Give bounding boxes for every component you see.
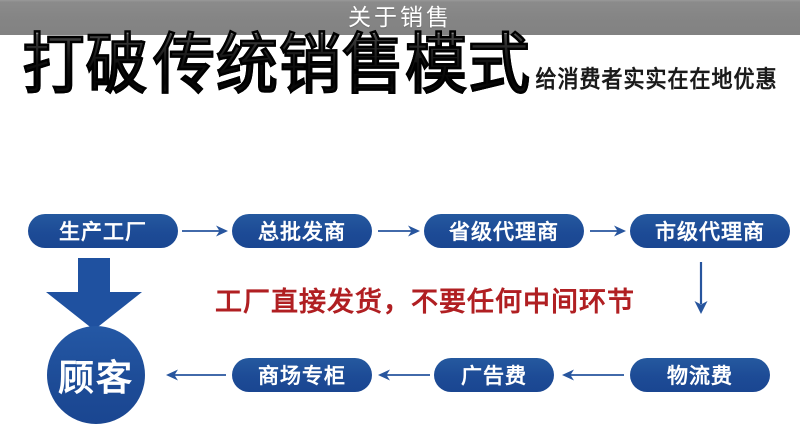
flow-node-province-agent[interactable]: 省级代理商 [424, 214, 584, 248]
flow-node-store-counter[interactable]: 商场专柜 [232, 358, 372, 392]
flow-node-customer[interactable]: 顾客 [47, 326, 145, 424]
page-title: 关于销售 [348, 6, 452, 29]
sales-promo-banner: 关于销售 打破 传统销售模式 给消费者实实在在地优惠 生产工厂 总批发商 省级代… [0, 0, 800, 435]
callout-text: 工厂直接发货，不要任何中间环节 [170, 280, 680, 319]
arrow-left-icon-2 [378, 368, 430, 382]
flow-node-label: 顾客 [58, 349, 134, 401]
hero-title-block: 打破 传统销售模式 给消费者实实在在地优惠 [0, 36, 800, 97]
flow-node-label: 市级代理商 [655, 216, 765, 246]
arrow-down-thin-icon [690, 262, 712, 314]
flow-node-label: 物流费 [667, 360, 733, 390]
flow-node-label: 生产工厂 [59, 216, 147, 246]
flow-node-label: 省级代理商 [449, 216, 559, 246]
flow-node-factory[interactable]: 生产工厂 [28, 214, 178, 248]
flow-node-logistics-fee[interactable]: 物流费 [630, 358, 770, 392]
arrow-left-icon-3 [562, 368, 624, 382]
arrow-right-icon-1 [182, 224, 228, 238]
flow-node-main-wholesaler[interactable]: 总批发商 [232, 214, 372, 248]
arrow-left-icon-1 [166, 368, 226, 382]
flow-node-label: 总批发商 [258, 216, 346, 246]
hero-title-line-2: 传统销售模式 [153, 34, 531, 98]
flow-node-label: 商场专柜 [258, 360, 346, 390]
flow-node-label: 广告费 [461, 360, 527, 390]
flow-node-ad-fee[interactable]: 广告费 [434, 358, 554, 392]
flow-node-city-agent[interactable]: 市级代理商 [630, 214, 790, 248]
arrow-down-thick-icon [42, 258, 146, 330]
arrow-right-icon-2 [378, 224, 420, 238]
arrow-right-icon-3 [590, 224, 626, 238]
hero-subtitle: 给消费者实实在在地优惠 [535, 62, 777, 95]
hero-title-line-1: 打破 [23, 34, 149, 98]
